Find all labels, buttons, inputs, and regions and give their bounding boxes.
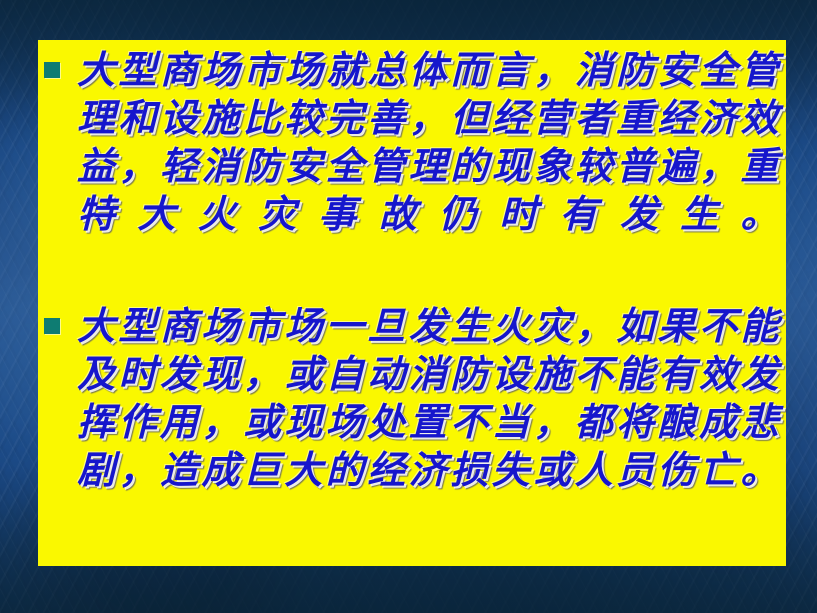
yellow-content-panel: 大型商场市场就总体而言，消防安全管理和设施比较完善，但经营者重经济效益，轻消防安…: [38, 40, 786, 566]
bullet-paragraph-1: 大型商场市场就总体而言，消防安全管理和设施比较完善，但经营者重经济效益，轻消防安…: [38, 46, 786, 286]
square-bullet-icon: [44, 62, 60, 78]
bullet-item-2: 大型商场市场一旦发生火灾，如果不能及时发现，或自动消防设施不能有效发挥作用，或现…: [38, 302, 786, 542]
bullet-item-1: 大型商场市场就总体而言，消防安全管理和设施比较完善，但经营者重经济效益，轻消防安…: [38, 46, 786, 286]
presentation-slide: 大型商场市场就总体而言，消防安全管理和设施比较完善，但经营者重经济效益，轻消防安…: [0, 0, 817, 613]
bullet-paragraph-2: 大型商场市场一旦发生火灾，如果不能及时发现，或自动消防设施不能有效发挥作用，或现…: [38, 302, 786, 542]
square-bullet-icon: [44, 318, 60, 334]
